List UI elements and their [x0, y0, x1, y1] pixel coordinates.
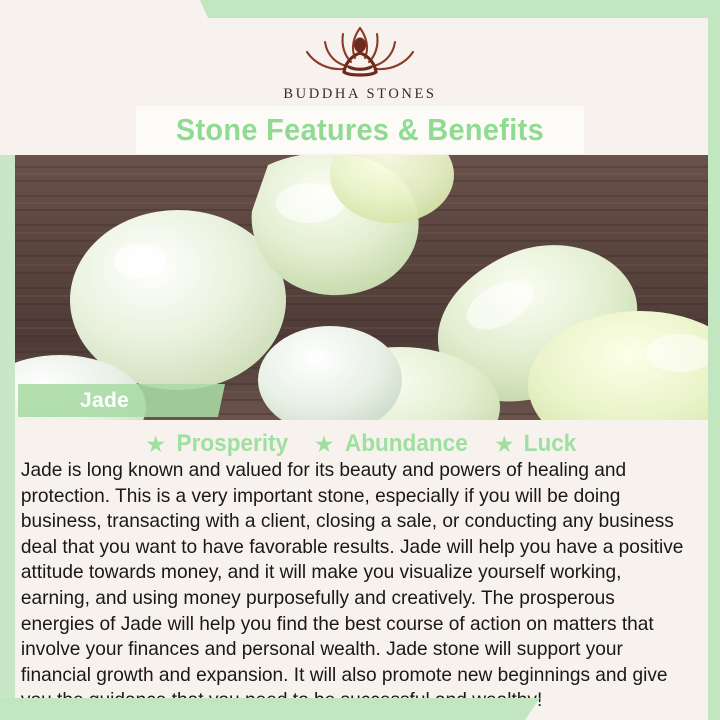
star-icon: ★ — [314, 433, 335, 456]
brand-logo: BUDDHA STONES — [0, 20, 720, 103]
benefit-item-luck: ★ Luck — [494, 430, 578, 458]
benefit-item-prosperity: ★ Prosperity — [145, 430, 291, 458]
title-banner: Stone Features & Benefits — [136, 106, 584, 154]
lotus-buddha-icon — [285, 20, 435, 82]
infographic-page: BUDDHA STONES Stone Features & Benefits — [0, 0, 720, 720]
stone-name-badge: Jade — [18, 384, 225, 417]
stone-description: Jade is long known and valued for its be… — [15, 458, 691, 714]
star-icon: ★ — [494, 433, 515, 456]
photo-artwork — [0, 155, 708, 420]
star-icon: ★ — [145, 433, 166, 456]
jade-tumbled-stones-photo — [0, 155, 708, 420]
benefit-item-abundance: ★ Abundance — [314, 430, 472, 458]
stone-description-text: Jade is long known and valued for its be… — [21, 458, 687, 714]
benefit-label-abundance: Abundance — [345, 430, 468, 458]
top-accent-bar — [0, 0, 720, 18]
benefit-label-prosperity: Prosperity — [177, 430, 289, 458]
benefit-label-luck: Luck — [523, 430, 576, 458]
brand-name: BUDDHA STONES — [0, 86, 720, 103]
stone-name: Jade — [80, 389, 129, 413]
right-accent-bar — [708, 0, 720, 720]
left-accent-bar — [0, 155, 15, 720]
page-title: Stone Features & Benefits — [176, 112, 544, 148]
benefits-row: ★ Prosperity ★ Abundance ★ Luck — [15, 430, 708, 458]
